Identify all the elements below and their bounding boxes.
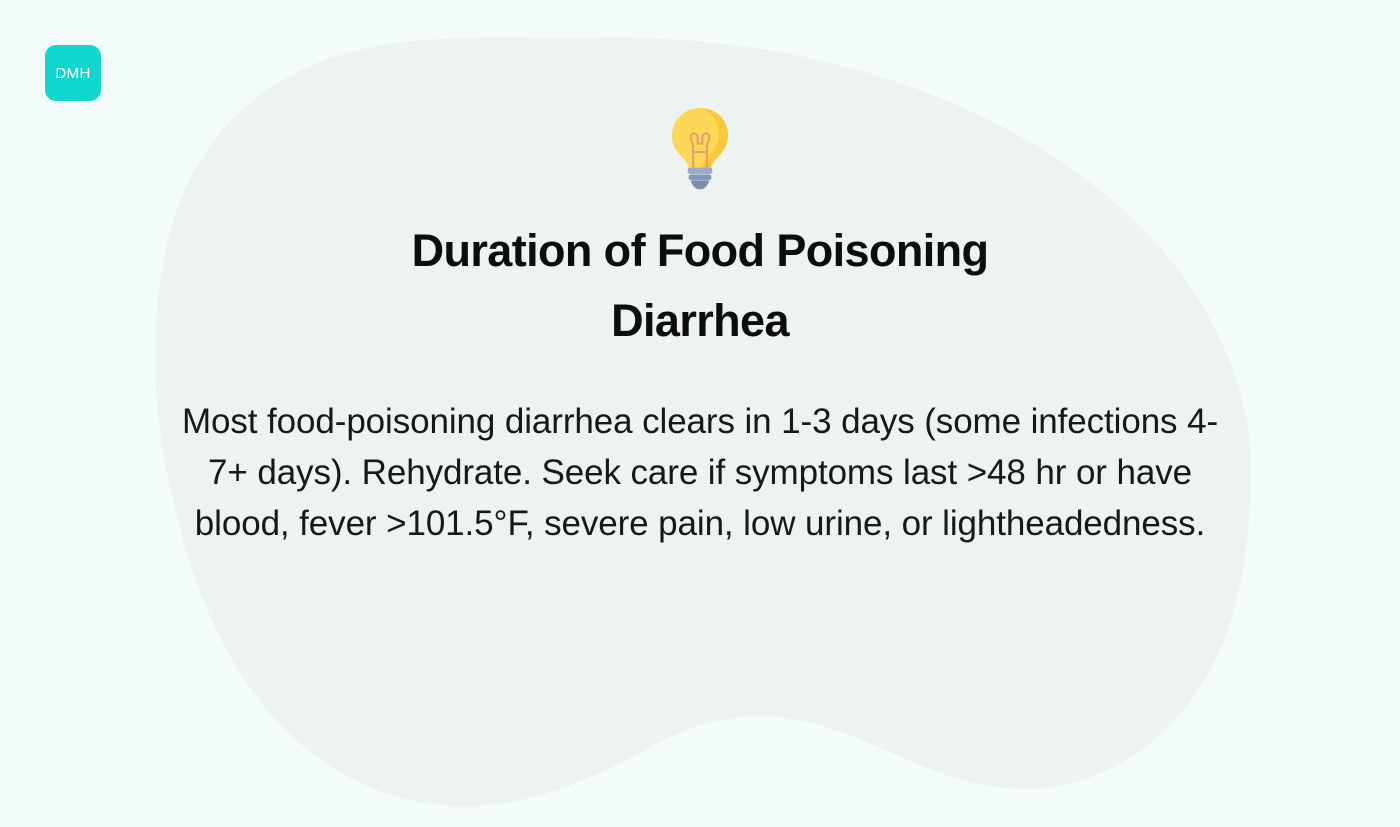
lightbulb-emoji xyxy=(666,104,734,190)
lightbulb-base-tip xyxy=(691,180,710,189)
slide-canvas: DMH Duration of Food Poisoning Diarrhea … xyxy=(0,0,1400,827)
page-title: Duration of Food Poisoning Diarrhea xyxy=(350,216,1050,356)
lightbulb-base-ring-1 xyxy=(689,175,712,180)
slide-content: Duration of Food Poisoning Diarrhea Most… xyxy=(0,0,1400,827)
page-body-text: Most food-poisoning diarrhea clears in 1… xyxy=(170,396,1230,549)
lightbulb-base-collar xyxy=(688,168,713,175)
